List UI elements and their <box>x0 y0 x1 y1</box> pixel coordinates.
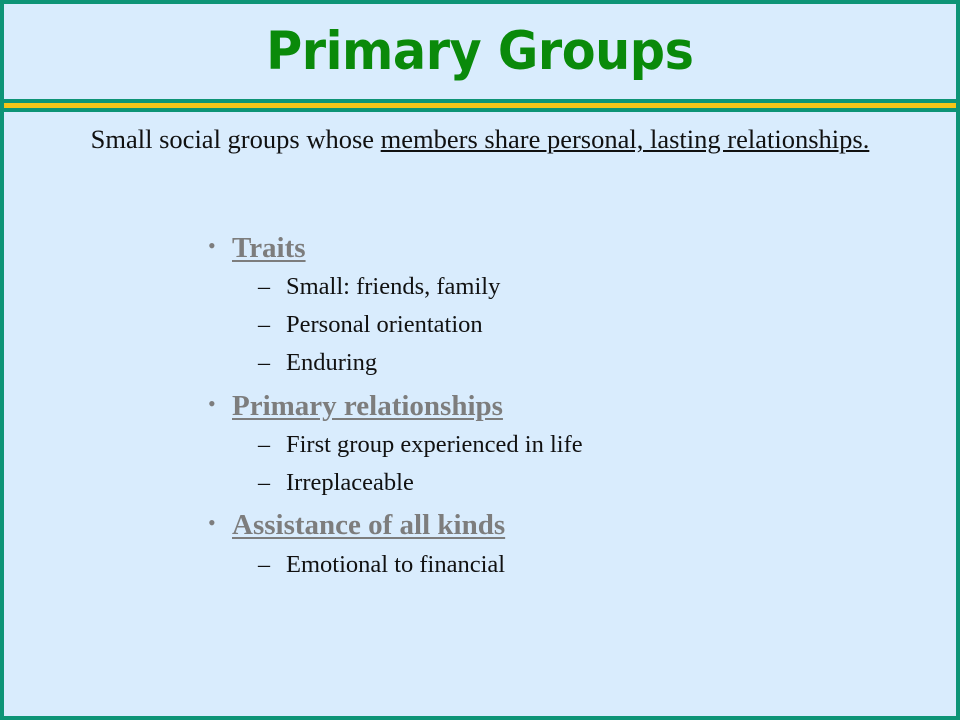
outline-subitem: – Personal orientation <box>202 309 916 341</box>
outline-group: • Primary relationships – First group ex… <box>202 388 916 499</box>
bullet-dash-icon: – <box>258 433 286 457</box>
outline-subitem-label: Irreplaceable <box>286 467 414 499</box>
outline-subitem: – First group experienced in life <box>202 429 916 461</box>
page-title: Primary Groups <box>266 25 693 78</box>
outline-heading-label: Assistance of all kinds <box>232 507 505 544</box>
divider-stripe-green-bottom <box>0 108 960 112</box>
outline-subitem: – Small: friends, family <box>202 271 916 303</box>
outline-subitem-label: Emotional to financial <box>286 549 505 581</box>
outline-heading: • Primary relationships <box>202 388 916 425</box>
outline-subitem: – Emotional to financial <box>202 549 916 581</box>
bullet-dash-icon: – <box>258 471 286 495</box>
bullet-dot-icon: • <box>202 235 232 257</box>
content-outline: • Traits – Small: friends, family – Pers… <box>202 230 916 580</box>
title-divider <box>0 99 960 112</box>
outline-subitem-label: Enduring <box>286 347 377 379</box>
title-area: Primary Groups <box>4 4 956 99</box>
bullet-dash-icon: – <box>258 275 286 299</box>
subtitle-underlined-text: members share personal, lasting relation… <box>381 124 870 154</box>
outline-subitem-label: First group experienced in life <box>286 429 583 461</box>
subtitle: Small social groups whose members share … <box>44 122 916 157</box>
bullet-dash-icon: – <box>258 313 286 337</box>
outline-group: • Assistance of all kinds – Emotional to… <box>202 507 916 580</box>
outline-heading: • Assistance of all kinds <box>202 507 916 544</box>
subtitle-plain-text: Small social groups whose <box>91 124 381 154</box>
bullet-dash-icon: – <box>258 351 286 375</box>
outline-subitem-label: Personal orientation <box>286 309 483 341</box>
bullet-dot-icon: • <box>202 393 232 415</box>
outline-heading-label: Traits <box>232 230 306 267</box>
outline-subitem-label: Small: friends, family <box>286 271 500 303</box>
outline-subitem: – Enduring <box>202 347 916 379</box>
outline-heading-label: Primary relationships <box>232 388 503 425</box>
slide: Primary Groups Small social groups whose… <box>0 0 960 720</box>
outline-heading: • Traits <box>202 230 916 267</box>
bullet-dot-icon: • <box>202 512 232 534</box>
outline-subitem: – Irreplaceable <box>202 467 916 499</box>
outline-group: • Traits – Small: friends, family – Pers… <box>202 230 916 379</box>
bullet-dash-icon: – <box>258 553 286 577</box>
